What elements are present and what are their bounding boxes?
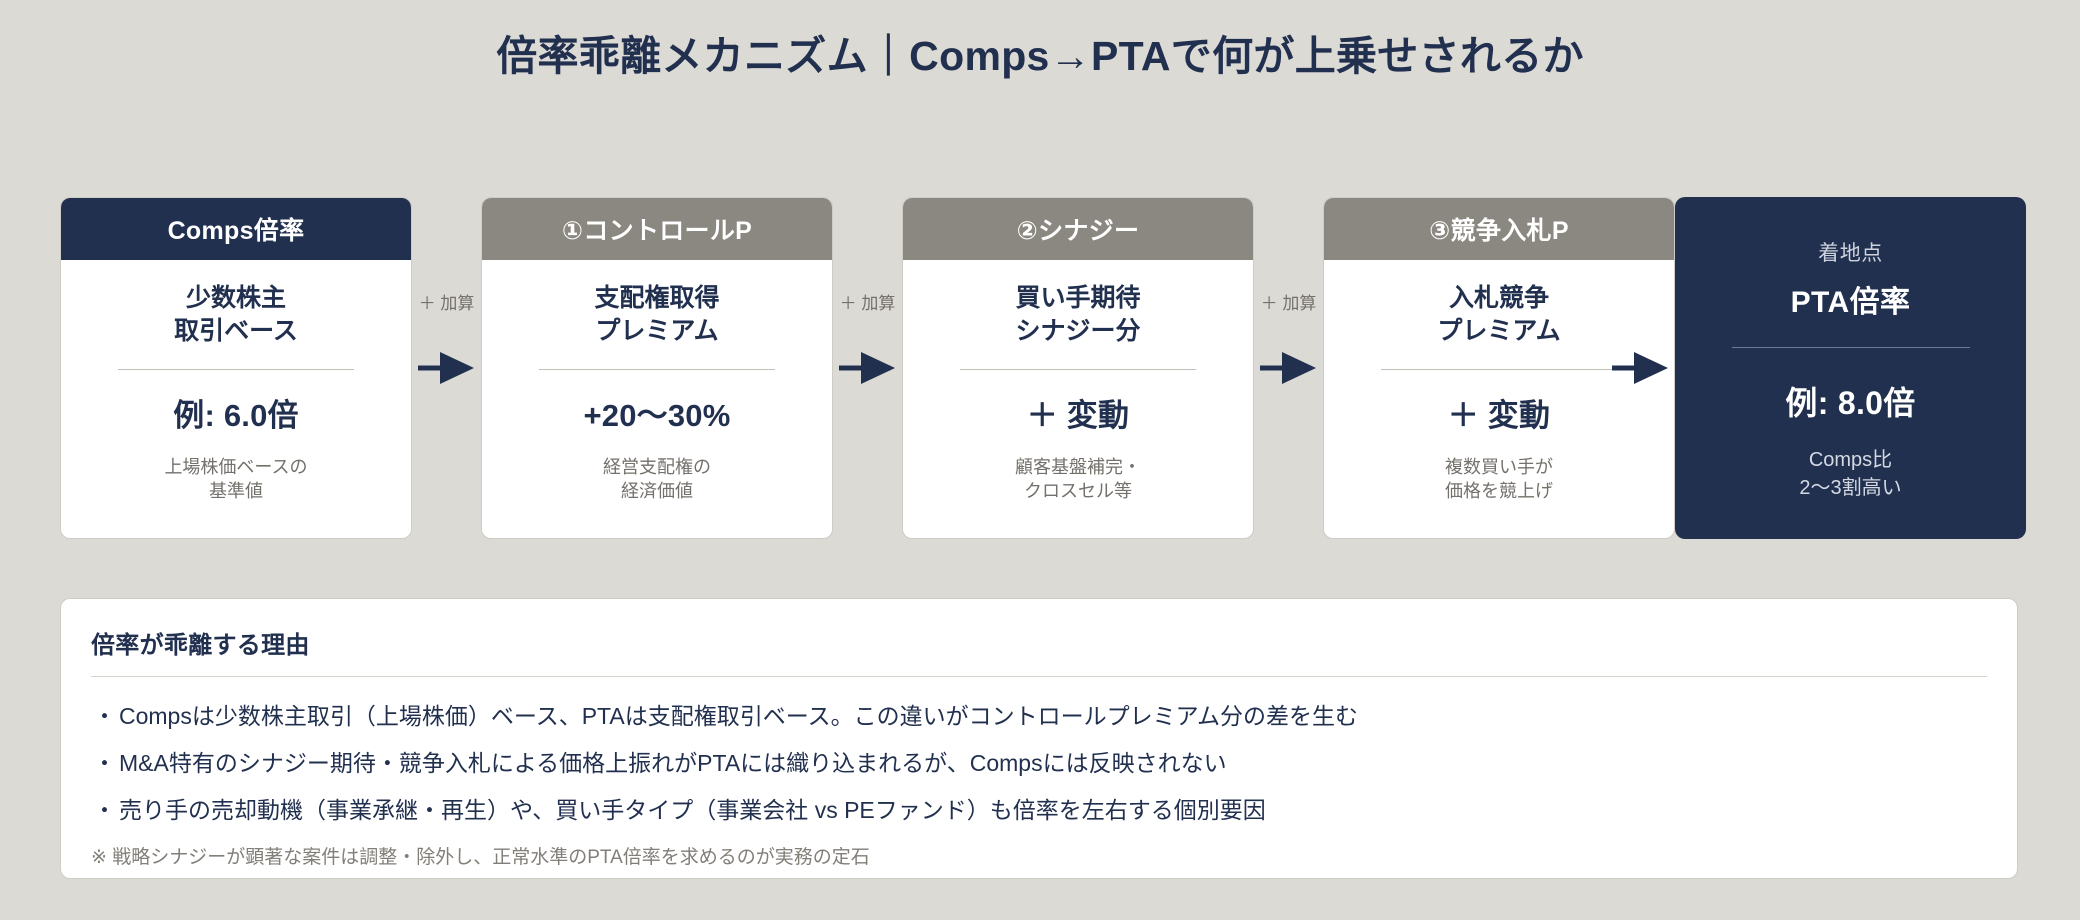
card-header-label: ①コントロールP <box>482 198 832 260</box>
card-divider <box>539 369 775 370</box>
arrow-right-icon <box>1260 348 1318 388</box>
flow-connector-4 <box>1606 197 1675 539</box>
card-value: +20〜30% <box>583 390 730 435</box>
page-title: 倍率乖離メカニズム｜Comps→PTAで何が上乗せされるか <box>0 22 2080 82</box>
card-main-line2: 取引ベース <box>174 315 298 348</box>
card-note: 顧客基盤補完・ クロスセル等 <box>1015 455 1141 504</box>
card-note-line1: 経営支配権の <box>603 455 711 479</box>
card-note: 経営支配権の 経済価値 <box>603 455 711 504</box>
card-main-line1: 少数株主 <box>174 282 298 315</box>
card-main-text: 支配権取得 プレミアム <box>594 282 719 347</box>
card-note-line2: 基準値 <box>164 479 307 503</box>
arrow-right-icon <box>1612 348 1670 388</box>
card-main-line1: 買い手期待 <box>1015 282 1140 315</box>
card-note-line2: 価格を競上げ <box>1445 479 1553 503</box>
card-main-line2: プレミアム <box>594 315 719 348</box>
card-divider <box>960 369 1196 370</box>
card-value: ＋ 変動 <box>1027 390 1129 435</box>
flow-card-comps: Comps倍率 少数株主 取引ベース 例: 6.0倍 上場株価ベースの 基準値 <box>60 197 412 539</box>
final-card-title: PTA倍率 <box>1791 277 1911 321</box>
flow-card-pta-result: 着地点 PTA倍率 例: 8.0倍 Comps比 2〜3割高い <box>1675 197 2026 539</box>
list-item: ・売り手の売却動機（事業承継・再生）や、買い手タイプ（事業会社 vs PEファン… <box>91 787 1987 834</box>
final-card-divider <box>1732 347 1970 348</box>
card-main-line1: 入札競争 <box>1437 282 1560 315</box>
list-item-text: 売り手の売却動機（事業承継・再生）や、買い手タイプ（事業会社 vs PEファンド… <box>119 797 1266 823</box>
list-item-text: Compsは少数株主取引（上場株価）ベース、PTAは支配権取引ベース。この違いが… <box>119 703 1358 729</box>
list-item-text: M&A特有のシナジー期待・競争入札による価格上振れがPTAには織り込まれるが、C… <box>119 750 1227 776</box>
card-note-line2: 経済価値 <box>603 479 711 503</box>
card-note-line1: 複数買い手が <box>1445 455 1553 479</box>
card-body: 少数株主 取引ベース 例: 6.0倍 上場株価ベースの 基準値 <box>61 260 411 538</box>
final-card-kicker: 着地点 <box>1818 237 1883 267</box>
bullet-marker: ・ <box>93 799 119 822</box>
card-main-text: 少数株主 取引ベース <box>174 282 298 347</box>
card-note-line2: クロスセル等 <box>1015 479 1141 503</box>
list-item: ・Compsは少数株主取引（上場株価）ベース、PTAは支配権取引ベース。この違い… <box>91 693 1987 740</box>
card-divider <box>1381 369 1617 370</box>
card-note-line1: 顧客基盤補完・ <box>1015 455 1141 479</box>
card-main-line1: 支配権取得 <box>594 282 719 315</box>
arrow-right-icon <box>839 348 897 388</box>
final-card-note-line2: 2〜3割高い <box>1799 474 1901 502</box>
connector-label: ＋ 加算 <box>833 289 902 314</box>
card-main-text: 入札競争 プレミアム <box>1437 282 1560 347</box>
card-main-text: 買い手期待 シナジー分 <box>1015 282 1140 347</box>
card-header-label: ②シナジー <box>903 198 1253 260</box>
connector-label: ＋ 加算 <box>1254 289 1323 314</box>
card-divider <box>118 369 354 370</box>
arrow-right-icon <box>418 348 476 388</box>
reasons-list: ・Compsは少数株主取引（上場株価）ベース、PTAは支配権取引ベース。この違い… <box>91 693 1987 834</box>
card-header-label: Comps倍率 <box>61 198 411 260</box>
card-note: 複数買い手が 価格を競上げ <box>1445 455 1553 504</box>
connector-label: ＋ 加算 <box>412 289 481 314</box>
reasons-panel: 倍率が乖離する理由 ・Compsは少数株主取引（上場株価）ベース、PTAは支配権… <box>60 598 2018 879</box>
flow-connector-3: ＋ 加算 <box>1254 197 1323 539</box>
flow-connector-2: ＋ 加算 <box>833 197 902 539</box>
flow-diagram: Comps倍率 少数株主 取引ベース 例: 6.0倍 上場株価ベースの 基準値 … <box>60 197 2026 539</box>
final-card-note-line1: Comps比 <box>1799 446 1901 474</box>
card-note-line1: 上場株価ベースの <box>164 455 307 479</box>
panel-footnote: ※ 戦略シナジーが顕著な案件は調整・除外し、正常水準のPTA倍率を求めるのが実務… <box>91 842 1987 869</box>
panel-title: 倍率が乖離する理由 <box>91 625 1987 660</box>
card-main-line2: シナジー分 <box>1015 315 1140 348</box>
bullet-marker: ・ <box>93 752 119 775</box>
panel-divider <box>91 676 1987 677</box>
card-body: 買い手期待 シナジー分 ＋ 変動 顧客基盤補完・ クロスセル等 <box>903 260 1253 538</box>
card-note: 上場株価ベースの 基準値 <box>164 455 307 504</box>
card-value: 例: 6.0倍 <box>173 390 298 435</box>
final-card-note: Comps比 2〜3割高い <box>1799 446 1901 502</box>
card-value: ＋ 変動 <box>1448 390 1550 435</box>
card-body: 支配権取得 プレミアム +20〜30% 経営支配権の 経済価値 <box>482 260 832 538</box>
flow-connector-1: ＋ 加算 <box>412 197 481 539</box>
list-item: ・M&A特有のシナジー期待・競争入札による価格上振れがPTAには織り込まれるが、… <box>91 740 1987 787</box>
flow-card-control-premium: ①コントロールP 支配権取得 プレミアム +20〜30% 経営支配権の 経済価値 <box>481 197 833 539</box>
bullet-marker: ・ <box>93 705 119 728</box>
slide-root: 倍率乖離メカニズム｜Comps→PTAで何が上乗せされるか Comps倍率 少数… <box>0 0 2080 920</box>
flow-card-synergy: ②シナジー 買い手期待 シナジー分 ＋ 変動 顧客基盤補完・ クロスセル等 <box>902 197 1254 539</box>
card-main-line2: プレミアム <box>1437 315 1560 348</box>
final-card-value: 例: 8.0倍 <box>1785 378 1915 424</box>
